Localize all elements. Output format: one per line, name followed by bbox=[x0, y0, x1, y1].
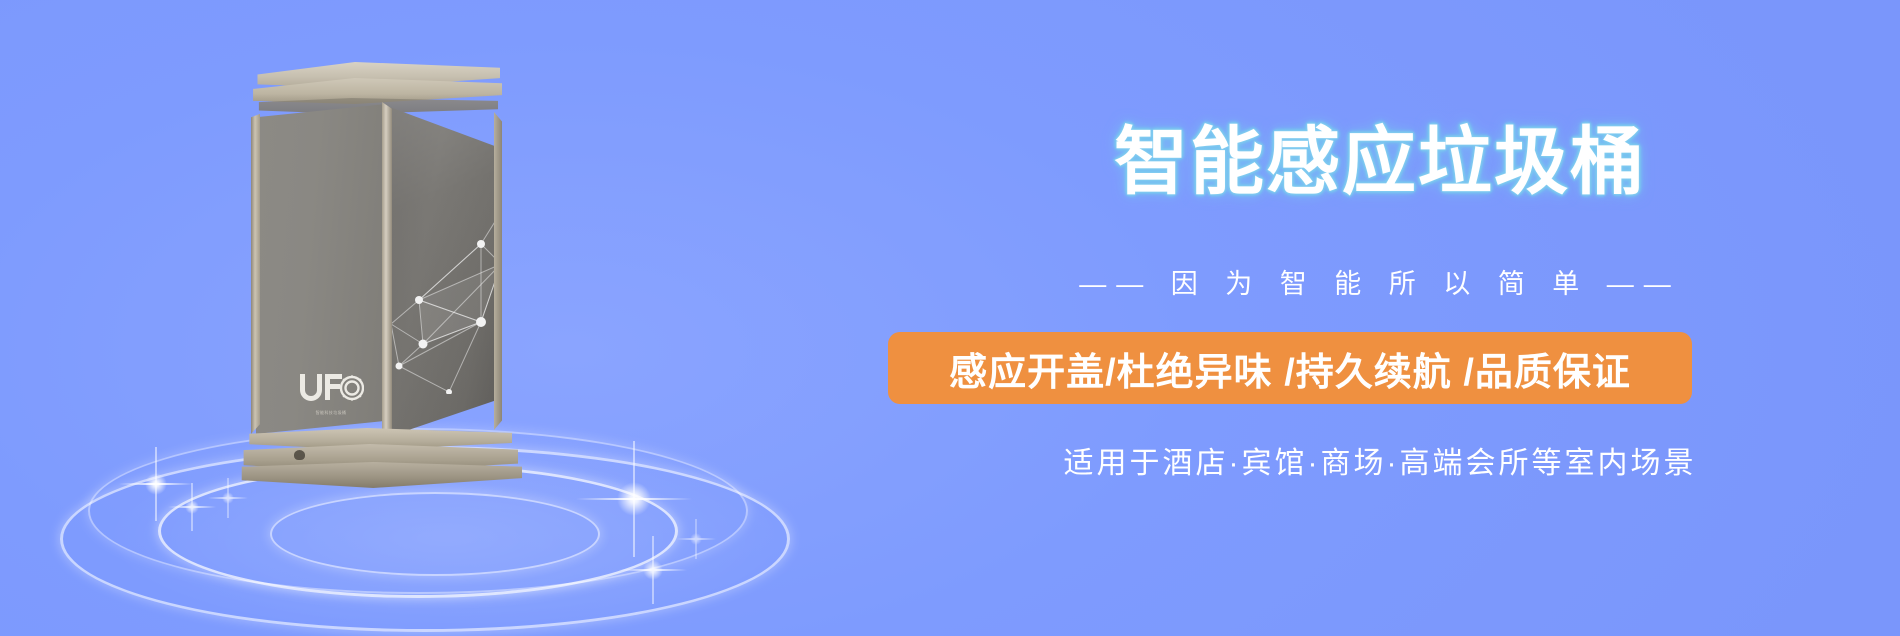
feature-tagline-text: 感应开盖/杜绝异味 /持久续航 /品质保证 bbox=[949, 341, 1631, 396]
feature-tagline-bar: 感应开盖/杜绝异味 /持久续航 /品质保证 bbox=[888, 332, 1692, 404]
sparkle-icon bbox=[690, 533, 702, 545]
copy-block: 智能感应垃圾桶 —— 因 为 智 能 所 以 简 单 —— 感应开盖/杜绝异味 … bbox=[860, 0, 1900, 636]
product-banner: 智能科技垃圾桶 智能感应垃圾桶 —— 因 为 智 能 所 以 简 单 —— 感应… bbox=[0, 0, 1900, 636]
product-stage: 智能科技垃圾桶 bbox=[0, 0, 860, 636]
sparkle-icon bbox=[145, 473, 167, 495]
banner-title: 智能感应垃圾桶 bbox=[860, 125, 1900, 199]
sparkle-icon bbox=[222, 492, 234, 504]
sparkle-icon bbox=[643, 560, 663, 580]
bin-sensor-port bbox=[294, 450, 305, 460]
ripple-ring-4 bbox=[270, 492, 600, 576]
bin-left-edge bbox=[251, 104, 260, 434]
banner-subtitle: —— 因 为 智 能 所 以 简 单 —— bbox=[860, 262, 1900, 301]
bin-right-edge bbox=[494, 112, 502, 430]
polygon-network-graphic bbox=[389, 204, 502, 394]
logo-subtext: 智能科技垃圾桶 bbox=[298, 410, 364, 416]
sparkle-icon bbox=[185, 500, 199, 514]
sparkle-icon bbox=[617, 482, 651, 516]
usage-scenario-note: 适用于酒店·宾馆·商场·高端会所等室内场景 bbox=[860, 438, 1900, 482]
trash-bin-product-image: 智能科技垃圾桶 bbox=[236, 54, 506, 474]
bin-corner-post bbox=[382, 102, 392, 438]
ufo-brand-logo: 智能科技垃圾桶 bbox=[298, 372, 364, 424]
